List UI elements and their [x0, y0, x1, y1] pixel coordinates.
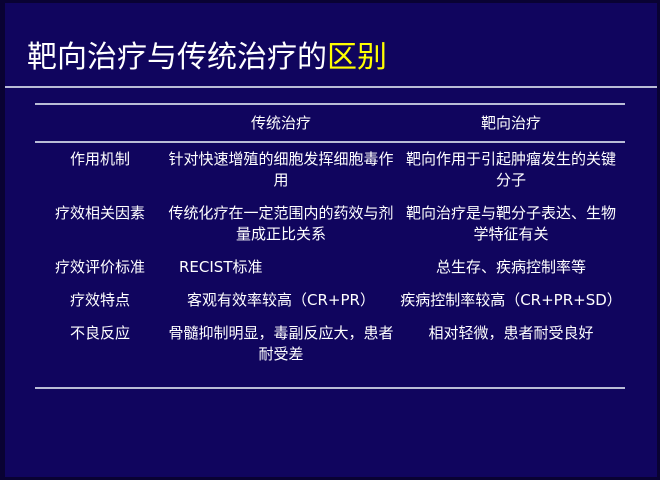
page-title-accent: 区别 — [327, 40, 387, 75]
comparison-table: 传统治疗 靶向治疗 作用机制 针对快速增殖的细胞发挥细胞毒作用 靶向作用于引起肿… — [35, 103, 625, 389]
cell-targeted-efficacy-factors: 靶向治疗是与靶分子表达、生物学特征有关 — [397, 197, 625, 251]
table-row: 疗效特点 客观有效率较高（CR+PR） 疾病控制率较高（CR+PR+SD） — [35, 284, 625, 317]
row-label-mechanism: 作用机制 — [35, 142, 165, 197]
cell-targeted-evaluation-criteria: 总生存、疾病控制率等 — [397, 251, 625, 284]
table-row: 疗效评价标准 RECIST标准 总生存、疾病控制率等 — [35, 251, 625, 284]
row-label-efficacy-features: 疗效特点 — [35, 284, 165, 317]
table-row: 不良反应 骨髓抑制明显，毒副反应大，患者耐受差 相对轻微，患者耐受良好 — [35, 317, 625, 388]
cell-conventional-adverse-reactions: 骨髓抑制明显，毒副反应大，患者耐受差 — [165, 317, 397, 388]
table-header: 传统治疗 靶向治疗 — [35, 104, 625, 142]
page-title: 靶向治疗与传统治疗的区别 — [27, 41, 387, 75]
comparison-table-container: 传统治疗 靶向治疗 作用机制 针对快速增殖的细胞发挥细胞毒作用 靶向作用于引起肿… — [35, 103, 625, 389]
page-title-main: 靶向治疗与传统治疗的 — [27, 40, 327, 75]
cell-conventional-mechanism: 针对快速增殖的细胞发挥细胞毒作用 — [165, 142, 397, 197]
table-header-row: 传统治疗 靶向治疗 — [35, 104, 625, 142]
cell-conventional-efficacy-features: 客观有效率较高（CR+PR） — [165, 284, 397, 317]
table-row: 作用机制 针对快速增殖的细胞发挥细胞毒作用 靶向作用于引起肿瘤发生的关键分子 — [35, 142, 625, 197]
cell-targeted-adverse-reactions: 相对轻微，患者耐受良好 — [397, 317, 625, 388]
row-label-evaluation-criteria: 疗效评价标准 — [35, 251, 165, 284]
cell-targeted-efficacy-features: 疾病控制率较高（CR+PR+SD） — [397, 284, 625, 317]
title-divider — [5, 86, 657, 88]
row-label-adverse-reactions: 不良反应 — [35, 317, 165, 388]
column-header-blank — [35, 104, 165, 142]
table-row: 疗效相关因素 传统化疗在一定范围内的药效与剂量成正比关系 靶向治疗是与靶分子表达… — [35, 197, 625, 251]
row-label-efficacy-factors: 疗效相关因素 — [35, 197, 165, 251]
cell-conventional-efficacy-factors: 传统化疗在一定范围内的药效与剂量成正比关系 — [165, 197, 397, 251]
table-body: 作用机制 针对快速增殖的细胞发挥细胞毒作用 靶向作用于引起肿瘤发生的关键分子 疗… — [35, 142, 625, 388]
cell-targeted-mechanism: 靶向作用于引起肿瘤发生的关键分子 — [397, 142, 625, 197]
cell-conventional-evaluation-criteria: RECIST标准 — [165, 251, 397, 284]
title-zone: 靶向治疗与传统治疗的区别 — [5, 3, 657, 85]
column-header-conventional: 传统治疗 — [165, 104, 397, 142]
slide: 靶向治疗与传统治疗的区别 传统治疗 靶向治疗 作用机制 针对快速增殖的细胞发挥细… — [0, 0, 660, 480]
column-header-targeted: 靶向治疗 — [397, 104, 625, 142]
